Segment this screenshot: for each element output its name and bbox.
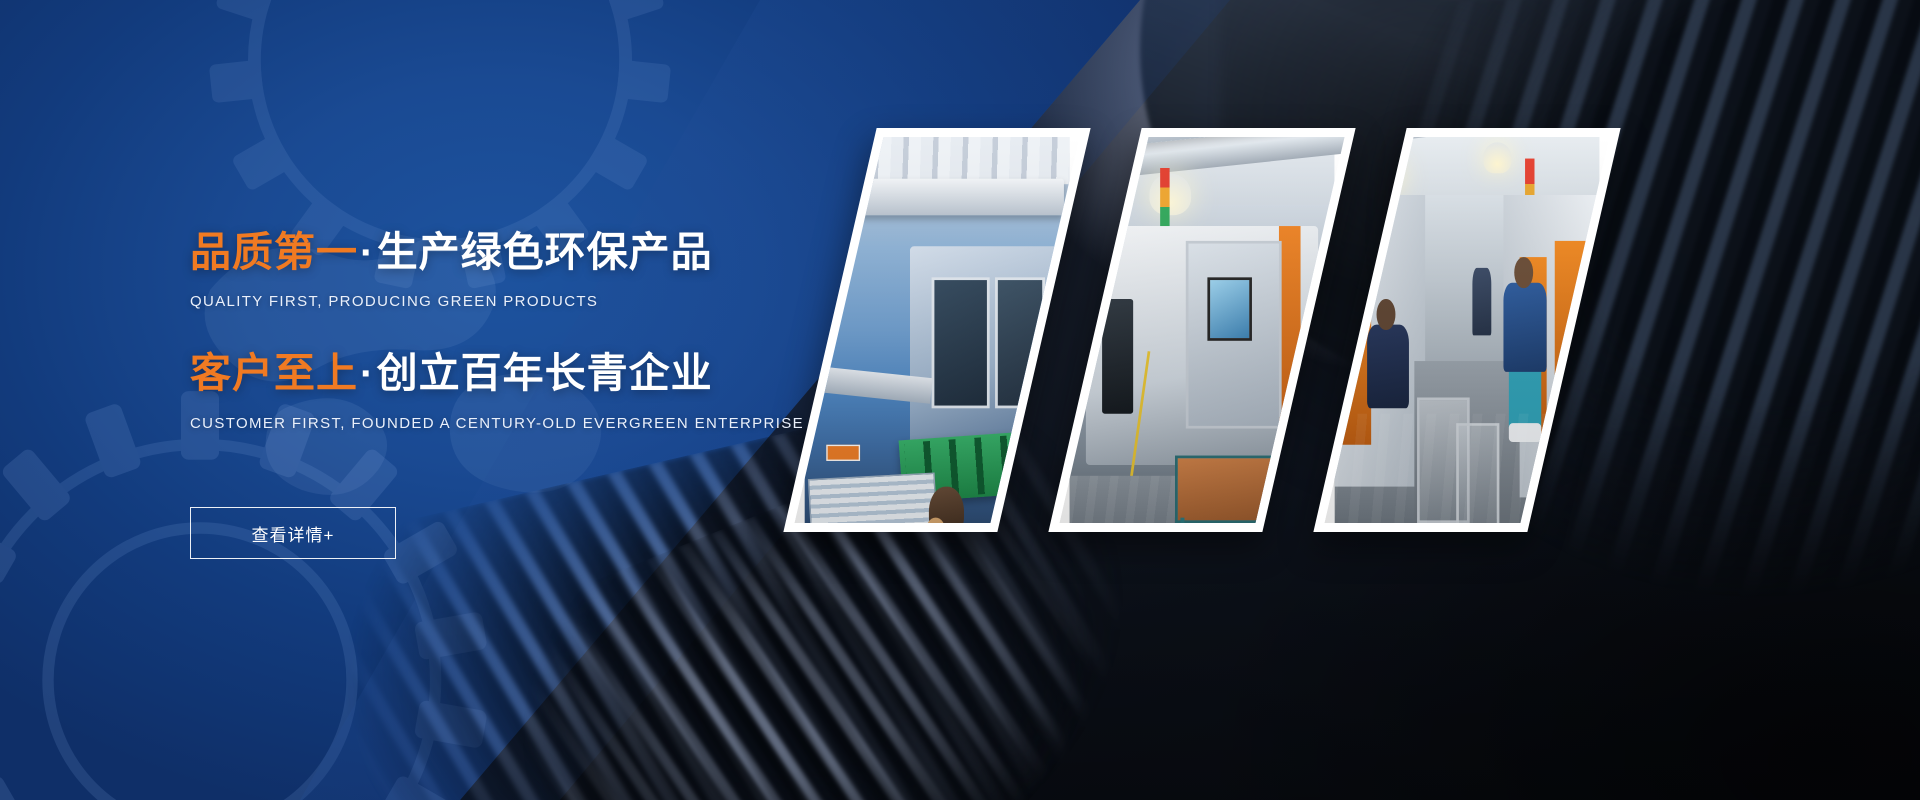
headline-2-accent: 客户至上 xyxy=(190,350,358,396)
photo-workshop-aisle[interactable] xyxy=(1313,128,1620,532)
headline-2-rest: 创立百年长青企业 xyxy=(377,350,713,396)
hero-banner: 品质第一·生产绿色环保产品 QUALITY FIRST, PRODUCING G… xyxy=(0,0,1920,800)
headline-1-subtitle: QUALITY FIRST, PRODUCING GREEN PRODUCTS xyxy=(190,293,950,310)
headline-1-accent: 品质第一 xyxy=(190,229,358,275)
hero-copy: 品质第一·生产绿色环保产品 QUALITY FIRST, PRODUCING G… xyxy=(190,228,950,432)
view-details-button[interactable]: 查看详情+ xyxy=(190,507,396,559)
photo-cnc-machine-room[interactable] xyxy=(1048,128,1355,532)
headline-1-rest: 生产绿色环保产品 xyxy=(377,229,713,275)
headline-2-subtitle: CUSTOMER FIRST, FOUNDED A CENTURY-OLD EV… xyxy=(190,415,950,432)
headline-2-separator: · xyxy=(358,350,377,396)
headline-1-separator: · xyxy=(358,229,377,275)
view-details-button-label: 查看详情+ xyxy=(252,521,335,546)
headline-1: 品质第一·生产绿色环保产品 xyxy=(190,228,950,276)
headline-2: 客户至上·创立百年长青企业 xyxy=(190,349,950,397)
